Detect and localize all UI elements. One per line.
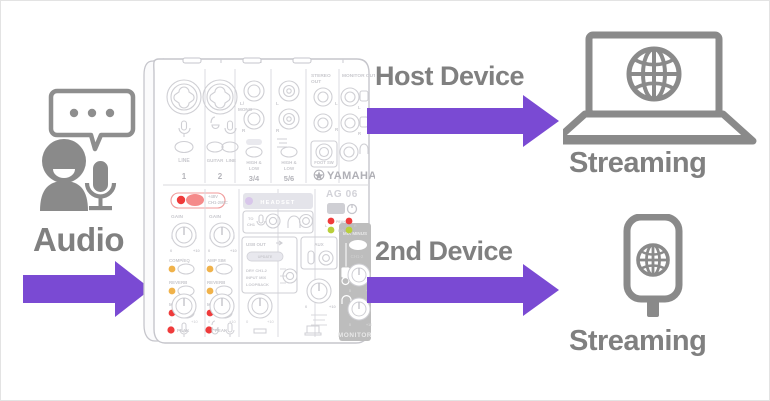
knob-level-1: 0+10	[170, 294, 199, 324]
microphone-icon	[87, 161, 114, 210]
arrow-right-icon-second	[367, 264, 559, 316]
audio-label: Audio	[33, 223, 124, 256]
globe-icon	[638, 245, 668, 275]
svg-text:+10: +10	[267, 319, 275, 324]
person-speaking-icon	[23, 77, 151, 211]
mixer-bottom-mic-icon	[180, 323, 188, 337]
mixer-bottom-laptop-icon	[305, 326, 321, 335]
knob-level-2: 0+10	[208, 294, 237, 324]
knob-level-3-4: 0+10	[246, 294, 275, 324]
arrow-right-icon-host	[367, 95, 559, 147]
second-device-label: 2nd Device	[375, 238, 513, 265]
laptop-icon	[563, 31, 759, 147]
arrow-right-icon-audio	[23, 261, 151, 317]
globe-icon	[629, 49, 679, 99]
diagram-canvas: Audio .pl{fill:none;stroke:#cfcfd4;strok…	[0, 0, 770, 401]
svg-text:0: 0	[246, 319, 249, 324]
mixer-bottom-guitar-icon	[212, 321, 218, 334]
mixer-fader-row: .k{fill:#ffffff;stroke:#cfcfd4;stroke-wi…	[143, 53, 375, 348]
mixer-bottom-mic-icon	[226, 323, 234, 337]
svg-text:+10: +10	[191, 319, 199, 324]
svg-text:0: 0	[170, 319, 173, 324]
mixer-bottom-usb-icon	[254, 329, 266, 333]
host-device-label: Host Device	[375, 63, 524, 90]
smartphone-icon	[619, 214, 695, 324]
streaming-label-top: Streaming	[569, 149, 706, 178]
svg-text:0: 0	[208, 319, 211, 324]
streaming-label-bottom: Streaming	[569, 327, 706, 356]
